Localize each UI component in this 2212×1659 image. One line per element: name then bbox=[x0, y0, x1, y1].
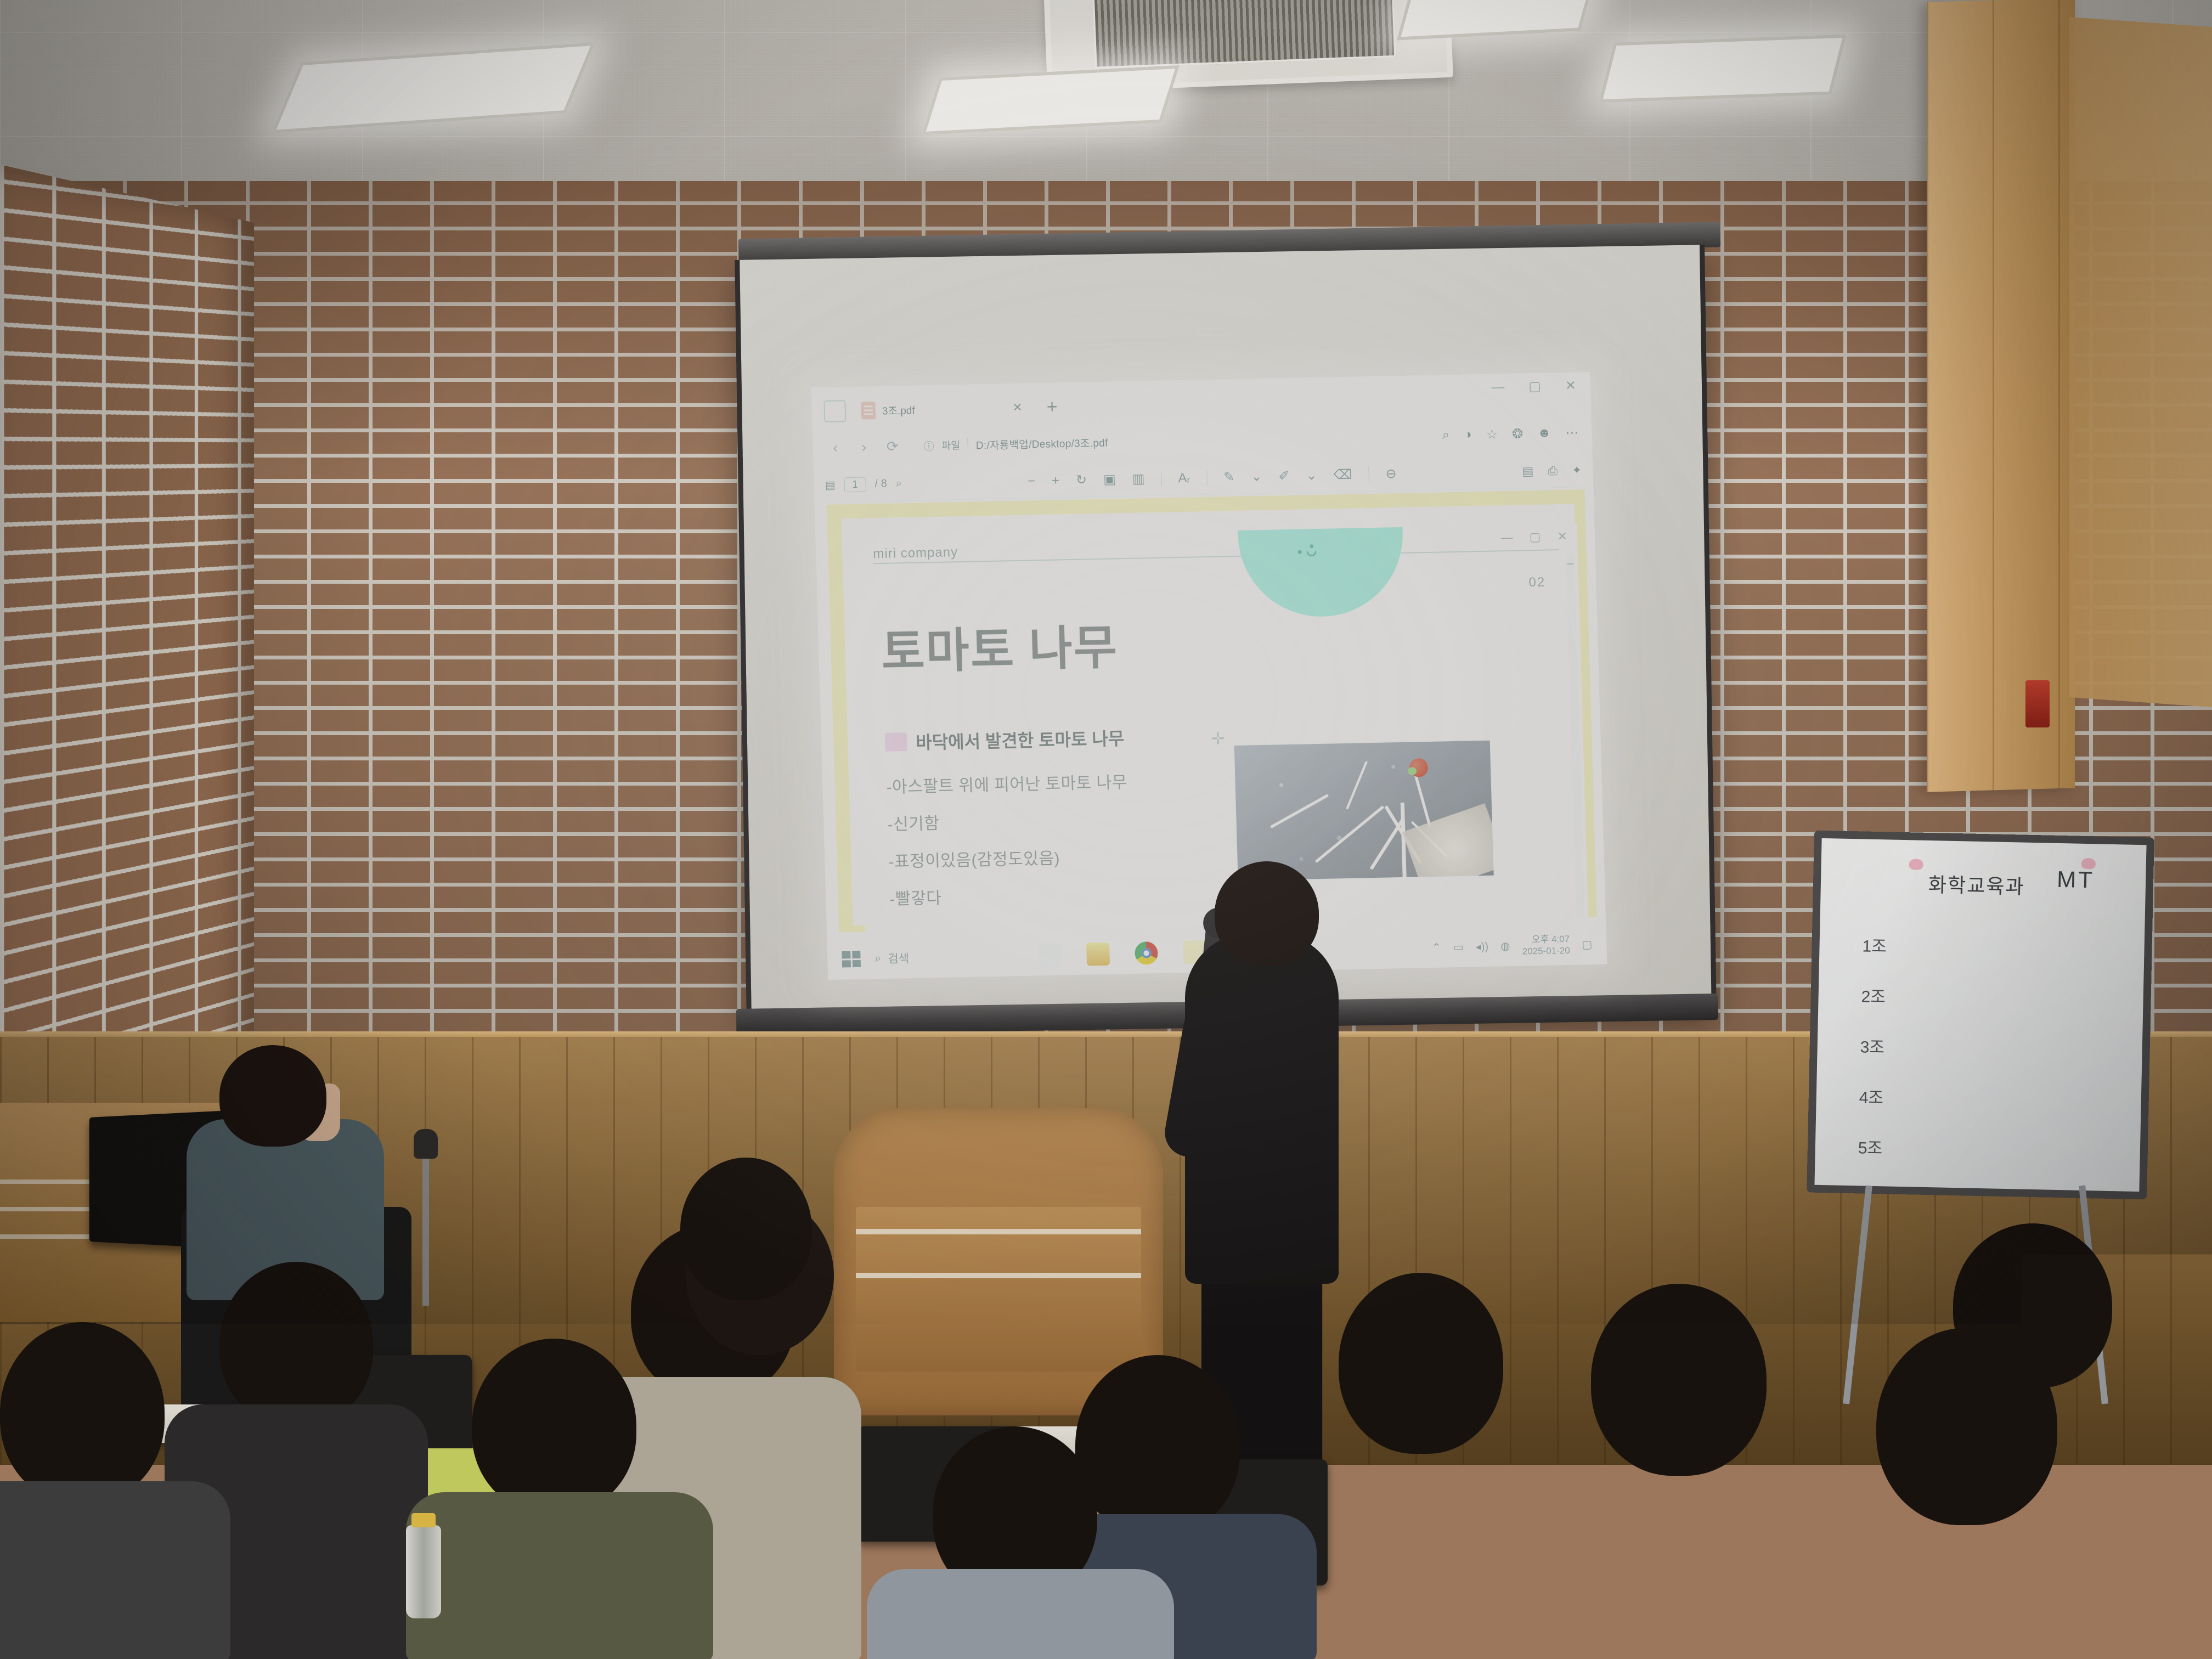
right-wood-beam bbox=[2069, 17, 2212, 707]
print-icon[interactable]: ⎙ bbox=[1548, 464, 1558, 478]
whiteboard-subtitle: MT bbox=[2057, 866, 2095, 893]
search-placeholder-label: 검색 bbox=[888, 950, 909, 967]
save-icon[interactable]: ▤ bbox=[1522, 464, 1534, 478]
minimize-icon[interactable]: — bbox=[1491, 380, 1505, 395]
clock-time: 오후 4:07 bbox=[1522, 933, 1570, 946]
taskbar-tray: ⌃ ▭ ◂)) ◍ 오후 4:07 2025-01-20 ▢ bbox=[1431, 933, 1593, 959]
zoom-out-button[interactable]: − bbox=[1028, 473, 1036, 489]
volume-icon[interactable]: ◂)) bbox=[1475, 939, 1488, 953]
maximize-icon[interactable]: ▢ bbox=[1529, 530, 1541, 544]
pdf-right-tools: ▤ ⎙ ✦ bbox=[1522, 463, 1582, 478]
chevron-down-icon[interactable]: ⌄ bbox=[1306, 467, 1317, 483]
team-item: 1조 bbox=[1862, 932, 1887, 957]
window-controls: — ▢ ✕ bbox=[1491, 377, 1577, 395]
team-item: 2조 bbox=[1861, 983, 1886, 1007]
ceiling-light bbox=[1599, 35, 1847, 103]
podium-trim bbox=[856, 1273, 1141, 1278]
bottle-cap bbox=[1525, 1519, 1549, 1533]
forward-icon[interactable]: › bbox=[854, 437, 873, 456]
whiteboard-title: 화학교육과 bbox=[1928, 869, 2025, 900]
bullet-item: -아스팔트 위에 피어난 토마토 나무 bbox=[886, 768, 1194, 798]
url-text: D:/자룡백업/Desktop/3조.pdf bbox=[975, 435, 1108, 452]
instructor-head bbox=[219, 1045, 326, 1147]
info-icon: ⓘ bbox=[923, 438, 934, 453]
battery-icon[interactable]: ◍ bbox=[1500, 939, 1510, 953]
browser-actions: ⌕ ◑ ☆ ❂ ☻ ⋯ bbox=[1442, 425, 1579, 443]
section-heading-text: 바닥에서 발견한 토마토 나무 bbox=[916, 725, 1125, 754]
collections-icon[interactable]: ❂ bbox=[1512, 426, 1523, 442]
mint-semicircle-decoration bbox=[1235, 523, 1405, 618]
slide-bullets: 바닥에서 발견한 토마토 나무 -아스팔트 위에 피어난 토마토 나무 -신기함… bbox=[885, 724, 1198, 923]
slide-header-rule bbox=[873, 549, 1559, 564]
bottle-cap bbox=[411, 1513, 436, 1527]
slide-photo bbox=[1233, 740, 1495, 882]
pdf-icon bbox=[861, 402, 876, 420]
tab-title: 3조.pdf bbox=[882, 402, 915, 417]
new-tab-button[interactable]: + bbox=[1037, 397, 1066, 416]
presenter-head bbox=[1215, 861, 1319, 966]
windows-start-icon[interactable] bbox=[842, 951, 861, 968]
slide-page-number: 02 bbox=[1528, 575, 1546, 591]
taskbar-clock[interactable]: 오후 4:07 2025-01-20 bbox=[1522, 933, 1570, 957]
slide-section-heading: 바닥에서 발견한 토마토 나무 bbox=[885, 724, 1193, 755]
security-label: 파일 bbox=[941, 438, 960, 453]
whiteboard-team-list: 1조 2조 3조 4조 5조 bbox=[1858, 932, 1887, 1159]
ac-grille bbox=[1091, 0, 1396, 69]
task-view-icon[interactable] bbox=[1038, 944, 1062, 967]
highlight-icon[interactable]: ✐ bbox=[1278, 468, 1290, 484]
pink-tag-icon bbox=[885, 732, 907, 752]
minimize-icon[interactable]: — bbox=[1500, 531, 1513, 545]
water-bottle bbox=[406, 1525, 441, 1618]
page-view-icon[interactable]: ▥ bbox=[1132, 471, 1145, 487]
divider bbox=[1161, 471, 1162, 486]
smiley-face-icon bbox=[1297, 544, 1320, 559]
fire-extinguisher bbox=[2025, 680, 2050, 727]
erase-icon[interactable]: ⌫ bbox=[1333, 467, 1352, 483]
browser-tab[interactable]: 3조.pdf ✕ bbox=[851, 393, 1032, 425]
page-number-input[interactable]: 1 bbox=[844, 477, 866, 492]
clock-date: 2025-01-20 bbox=[1522, 945, 1570, 957]
pdf-view-tools: − + ↻ ▣ ▥ Aᵣ ✎ ⌄ ✐ ⌄ ⌫ ⊖ bbox=[902, 463, 1522, 492]
pdf-page-stage: — ▢ ✕ miri company 02 bbox=[815, 487, 1607, 980]
pdf-page-nav: ▤ 1 / 8 ⌕ bbox=[825, 476, 902, 493]
tab-actions-icon[interactable] bbox=[823, 400, 846, 422]
close-icon[interactable]: ✕ bbox=[1565, 377, 1576, 393]
search-icon[interactable]: ⌕ bbox=[896, 477, 902, 490]
left-brick-wall bbox=[0, 165, 254, 1130]
water-bottle bbox=[1520, 1531, 1555, 1624]
network-icon[interactable]: ▭ bbox=[1453, 940, 1464, 953]
team-item: 5조 bbox=[1858, 1134, 1882, 1159]
favorites-star-icon[interactable]: ☆ bbox=[1486, 426, 1498, 442]
page-total-label: / 8 bbox=[874, 478, 887, 490]
chrome-icon[interactable] bbox=[1135, 941, 1158, 965]
read-aloud-icon[interactable]: Aᵣ bbox=[1178, 470, 1190, 486]
divider bbox=[967, 438, 968, 452]
more-icon[interactable]: ⋯ bbox=[1565, 425, 1579, 441]
bullet-item: -표정이있음(감정도있음) bbox=[888, 842, 1196, 872]
whiteboard-frame: 화학교육과 MT 1조 2조 3조 4조 5조 bbox=[1807, 831, 2154, 1200]
plus-decoration: ✛ bbox=[1211, 729, 1225, 748]
right-wood-column bbox=[1927, 0, 2075, 792]
reading-view-icon[interactable]: ⊖ bbox=[1385, 466, 1397, 482]
slide-content: — ▢ ✕ miri company 02 bbox=[854, 523, 1588, 933]
slide-title: 토마토 나무 bbox=[880, 608, 1119, 682]
chevron-up-icon[interactable]: ⌃ bbox=[1432, 940, 1441, 954]
projected-desktop: 3조.pdf ✕ + — ▢ ✕ ‹ › ⟳ bbox=[811, 372, 1607, 980]
microphone-stand bbox=[422, 1152, 429, 1306]
address-bar[interactable]: ⓘ 파일 D:/자룡백업/Desktop/3조.pdf bbox=[911, 422, 1432, 460]
sidebar-toggle-icon[interactable]: ▤ bbox=[825, 478, 836, 492]
split-screen-icon[interactable]: ◑ bbox=[1464, 427, 1472, 442]
maximize-icon[interactable]: ▢ bbox=[1528, 379, 1542, 394]
copilot-icon[interactable]: ✦ bbox=[1572, 463, 1582, 477]
presenter-body bbox=[1185, 933, 1339, 1284]
zoom-in-button[interactable]: + bbox=[1052, 473, 1060, 488]
whiteboard: 화학교육과 MT 1조 2조 3조 4조 5조 bbox=[1807, 831, 2154, 1200]
whiteboard-surface: 화학교육과 MT 1조 2조 3조 4조 5조 bbox=[1814, 838, 2146, 1192]
fit-page-icon[interactable]: ▣ bbox=[1103, 471, 1116, 487]
slide-window-controls: — ▢ ✕ bbox=[1500, 529, 1567, 545]
notification-icon[interactable]: ▢ bbox=[1582, 938, 1593, 951]
magnet-icon bbox=[1909, 859, 1923, 870]
file-explorer-icon[interactable] bbox=[1086, 943, 1110, 966]
draw-icon[interactable]: ✎ bbox=[1223, 469, 1235, 485]
chevron-down-icon[interactable]: ⌄ bbox=[1251, 469, 1262, 484]
slide-brand-logo: miri company bbox=[873, 545, 958, 562]
team-item: 4조 bbox=[1859, 1084, 1883, 1108]
search-icon[interactable]: ⌕ bbox=[1442, 427, 1449, 443]
bullet-item: -신기함 bbox=[887, 805, 1195, 835]
lecture-room-scene: 3조.pdf ✕ + — ▢ ✕ ‹ › ⟳ bbox=[0, 0, 2212, 1659]
close-icon[interactable]: ✕ bbox=[1012, 400, 1023, 415]
edge-browser-window: 3조.pdf ✕ + — ▢ ✕ ‹ › ⟳ bbox=[811, 372, 1607, 980]
rotate-icon[interactable]: ↻ bbox=[1076, 472, 1087, 488]
profile-icon[interactable]: ☻ bbox=[1537, 425, 1551, 441]
divider bbox=[1368, 467, 1369, 482]
taskbar-search[interactable]: ⌕ 검색 bbox=[874, 950, 909, 967]
team-item: 3조 bbox=[1860, 1033, 1884, 1058]
close-icon[interactable]: ✕ bbox=[1557, 529, 1567, 544]
slide-frame: — ▢ ✕ miri company 02 bbox=[831, 492, 1594, 933]
back-icon[interactable]: ‹ bbox=[826, 438, 845, 457]
reload-icon[interactable]: ⟳ bbox=[883, 437, 902, 456]
tab-strip: 3조.pdf ✕ + bbox=[811, 391, 1066, 427]
search-icon: ⌕ bbox=[874, 952, 881, 965]
bullet-item: -빨갛다 bbox=[889, 879, 1197, 910]
divider bbox=[1206, 470, 1207, 486]
podium-trim bbox=[856, 1229, 1141, 1234]
